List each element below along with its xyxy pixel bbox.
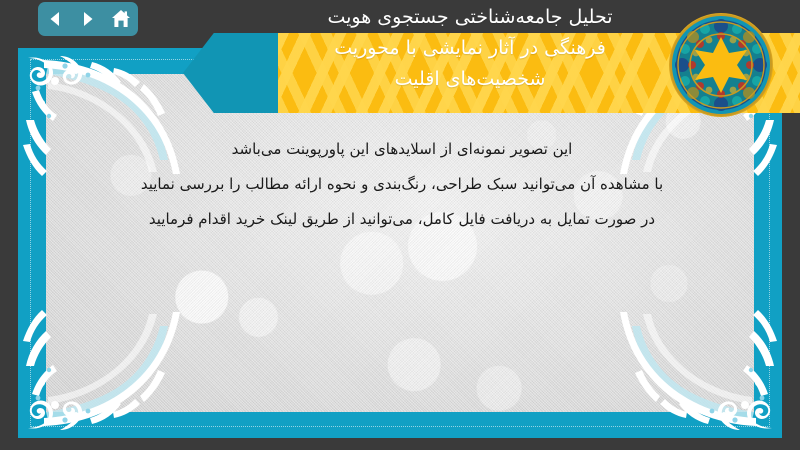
slide-title: تحلیل جامعه‌شناختی جستجوی هویت فرهنگی در…	[270, 2, 670, 95]
slide-body-text: این تصویر نمونه‌ای از اسلایدهای این پاور…	[60, 132, 744, 237]
triangle-left-icon	[45, 9, 65, 29]
title-line-1: تحلیل جامعه‌شناختی جستجوی هویت	[270, 2, 670, 33]
arabesque-corner-ornament-bottom-left	[18, 306, 186, 438]
triangle-right-icon	[78, 9, 98, 29]
next-slide-button[interactable]	[76, 7, 100, 31]
body-line-3: در صورت تمایل به دریافت فایل کامل، می‌تو…	[60, 202, 744, 237]
title-line-2: فرهنگی در آثار نمایشی با محوریت	[270, 33, 670, 64]
arabesque-corner-ornament-bottom-right	[614, 306, 782, 438]
home-icon	[110, 8, 132, 30]
home-button[interactable]	[109, 7, 133, 31]
title-line-3: شخصیت‌های اقلیت	[270, 64, 670, 95]
persian-medallion-icon	[668, 12, 774, 118]
body-line-1: این تصویر نمونه‌ای از اسلایدهای این پاور…	[60, 132, 744, 167]
previous-slide-button[interactable]	[43, 7, 67, 31]
presentation-viewer: این تصویر نمونه‌ای از اسلایدهای این پاور…	[0, 0, 800, 450]
body-line-2: با مشاهده آن می‌توانید سبک طراحی، رنگ‌بن…	[60, 167, 744, 202]
navigation-panel	[38, 2, 138, 36]
